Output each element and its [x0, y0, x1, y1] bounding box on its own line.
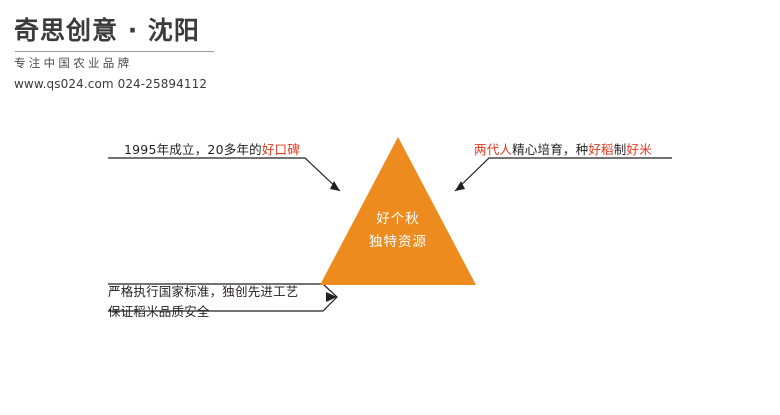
callout-right-top-accent2: 好稻 [588, 142, 613, 157]
center-triangle-label: 好个秋 独特资源 [320, 208, 476, 254]
callout-right-top: 两代人精心培育，种好稻制好米 [474, 140, 652, 159]
poster-canvas: 奇思创意 · 沈阳 专注中国农业品牌 www.qs024.com 024-258… [0, 0, 780, 415]
logo-contact: www.qs024.com 024-25894112 [14, 77, 244, 92]
logo-block: 奇思创意 · 沈阳 专注中国农业品牌 www.qs024.com 024-258… [14, 16, 244, 92]
callout-right-top-accent3: 好米 [626, 142, 651, 157]
callout-right-top-accent1: 两代人 [474, 142, 512, 157]
callout-bottom: 严格执行国家标准，独创先进工艺 保证稻米品质安全 [108, 282, 299, 322]
callout-bottom-line1: 严格执行国家标准，独创先进工艺 [108, 282, 299, 302]
center-label-line2: 独特资源 [320, 231, 476, 254]
logo-brand-text: 奇思创意 · 沈阳 [14, 16, 244, 46]
center-label-line1: 好个秋 [320, 208, 476, 231]
callout-left-top: 1995年成立，20多年的好口碑 [124, 140, 300, 159]
callout-left-top-accent: 好口碑 [262, 142, 300, 157]
callout-left-top-text: 1995年成立，20多年的 [124, 142, 262, 157]
logo-divider [15, 51, 214, 52]
logo-tagline: 专注中国农业品牌 [14, 56, 244, 71]
callout-right-top-mid2: 制 [614, 142, 627, 157]
callout-bottom-line2: 保证稻米品质安全 [108, 302, 299, 322]
callout-right-top-mid1: 精心培育，种 [512, 142, 588, 157]
